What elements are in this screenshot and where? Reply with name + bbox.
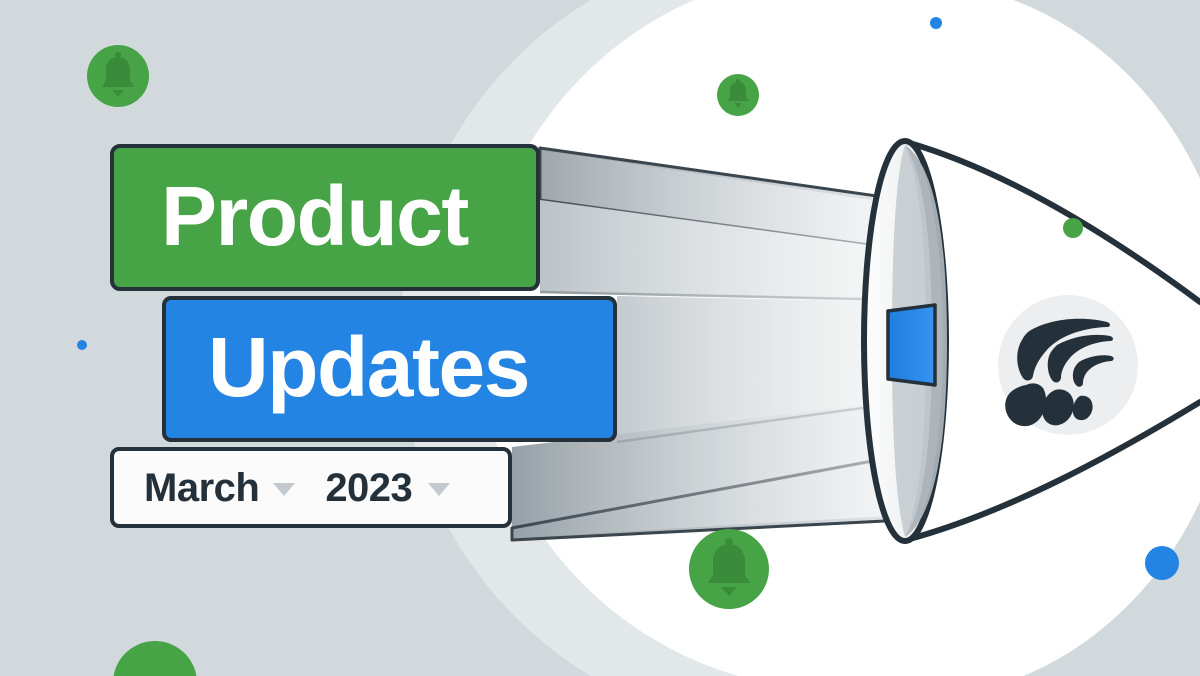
megaphone-blue-patch <box>888 305 935 385</box>
chevron-down-icon-year[interactable] <box>428 483 450 496</box>
chevron-down-icon-month[interactable] <box>273 483 295 496</box>
circle-green-bottom-left <box>113 641 197 676</box>
dot-green-cone-line <box>1063 218 1083 238</box>
bell-badge-top-mid <box>717 74 759 116</box>
dot-blue-bottom-right <box>1145 546 1179 580</box>
dot-blue-top-right <box>930 17 942 29</box>
bell-badge-top-left <box>87 45 149 107</box>
date-selector-card: March 2023 <box>110 447 512 528</box>
updates-title-text: Updates <box>166 325 529 409</box>
updates-title-card: Updates <box>162 296 617 442</box>
dot-blue-left <box>77 340 87 350</box>
product-title-text: Product <box>114 174 468 258</box>
banner-canvas: Product Updates March 2023 <box>0 0 1200 676</box>
product-title-card: Product <box>110 144 540 291</box>
bell-badge-bottom <box>689 529 769 609</box>
year-label[interactable]: 2023 <box>325 468 412 508</box>
month-label[interactable]: March <box>144 468 259 508</box>
